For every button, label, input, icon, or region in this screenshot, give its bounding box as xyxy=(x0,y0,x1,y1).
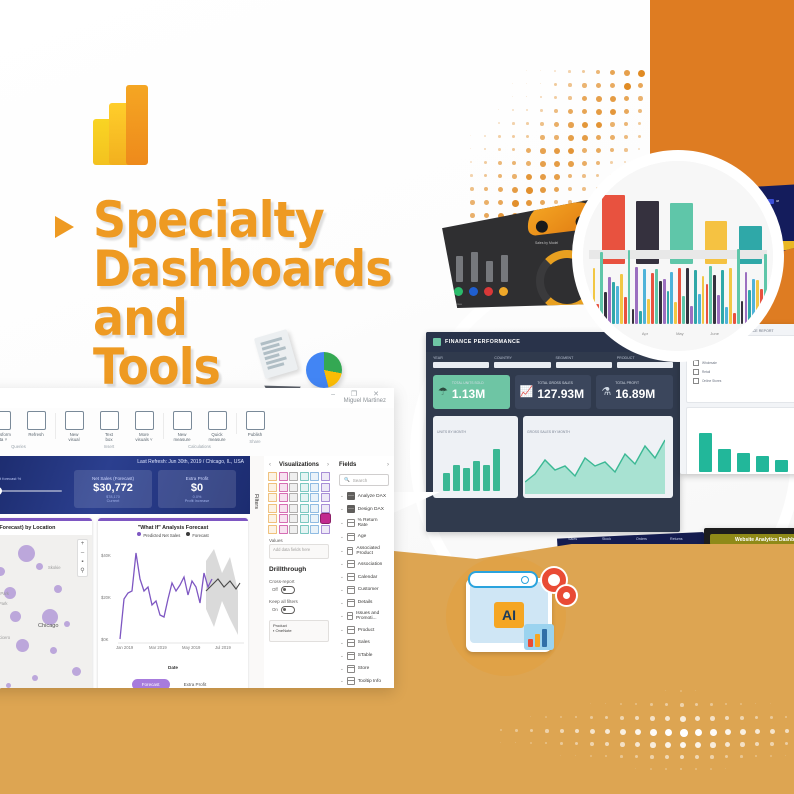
table-icon xyxy=(347,547,354,555)
quick-measure-icon xyxy=(208,411,227,430)
field-label: Product xyxy=(358,628,375,633)
magnified-bar-small xyxy=(628,250,631,324)
ribbon-button-quick-measure-icon[interactable]: Quick measure xyxy=(202,411,232,442)
kpi-sub2: Profit Increase xyxy=(185,499,209,503)
visual-type-icon[interactable] xyxy=(300,493,309,502)
magnified-bar-small xyxy=(729,268,732,325)
visual-type-icon[interactable] xyxy=(310,493,319,502)
finance-filter-label: COUNTRY xyxy=(494,356,550,360)
ribbon-group-name: Calculations xyxy=(188,444,211,449)
visual-type-icon[interactable] xyxy=(279,483,288,492)
map-zoom-controls[interactable]: +–▪⚲ xyxy=(77,539,88,577)
magnifier-x-tick: Mar xyxy=(608,331,615,336)
chevron-down-icon[interactable]: ⌄ xyxy=(340,678,344,684)
magnified-bar-small xyxy=(709,266,712,325)
visual-type-icon[interactable] xyxy=(310,514,319,523)
field-label: Sales xyxy=(358,640,370,645)
chevron-down-icon[interactable]: ⌄ xyxy=(340,548,344,554)
bar-chart-icon xyxy=(524,624,554,650)
field-item[interactable]: ⌄ STable xyxy=(334,649,394,662)
visual-type-icon[interactable] xyxy=(289,514,298,523)
visual-type-icon[interactable] xyxy=(321,525,330,534)
cross-report-toggle[interactable]: Off xyxy=(264,585,334,595)
chart-buttons[interactable]: Forecast Extra Profit xyxy=(98,679,248,688)
filter-option-label: Online Stores xyxy=(702,379,721,383)
map-bubble[interactable] xyxy=(36,563,43,570)
finance-kpi: 📈 TOTAL GROSS SALES 127.93M xyxy=(515,375,592,409)
magnifier-x-tick: May xyxy=(676,331,684,336)
y-tick-label: $20K xyxy=(101,595,111,600)
chevron-right-icon[interactable]: › xyxy=(327,462,329,468)
measure-icon xyxy=(347,492,355,500)
map-control[interactable]: – xyxy=(81,549,84,558)
toggle-switch-icon[interactable] xyxy=(281,586,295,594)
visual-type-icon[interactable] xyxy=(279,493,288,502)
filters-rail[interactable]: Filters xyxy=(250,456,265,688)
field-item[interactable]: ⌄ Age xyxy=(334,530,394,543)
ribbon-button-label: More visuals ˅ xyxy=(135,432,152,442)
table-icon xyxy=(347,519,355,527)
y-tick-label: $40K xyxy=(101,553,111,558)
last-refresh-label: Last Refresh: Jun 30th, 2019 / Chicago, … xyxy=(137,459,244,465)
slider-caption: Adjust forecast % xyxy=(0,476,21,481)
ribbon-button-new-visual-icon[interactable]: New visual xyxy=(59,411,89,442)
field-label: Calendar xyxy=(358,575,377,580)
table-icon xyxy=(347,533,355,541)
filters-label: Filters xyxy=(253,494,259,509)
visual-type-icon[interactable] xyxy=(279,472,288,481)
visual-type-icon[interactable] xyxy=(268,493,277,502)
poster-canvas: Specialty Dashboards and Tools Sales by … xyxy=(0,0,794,794)
transform-data-icon xyxy=(0,411,11,430)
ribbon-group: Publish Share xyxy=(236,411,274,444)
legend-label-2: Forecast xyxy=(192,533,208,538)
pie-chart-icon xyxy=(306,352,342,388)
map-bubble[interactable] xyxy=(18,545,35,562)
table-icon xyxy=(347,560,355,568)
more-visuals-icon xyxy=(135,411,154,430)
checkbox-icon[interactable] xyxy=(693,378,699,384)
visual-type-icon[interactable] xyxy=(279,514,288,523)
finance-kpi: ⚗ TOTAL PROFIT 16.89M xyxy=(596,375,673,409)
chevron-down-icon[interactable]: ⌄ xyxy=(340,653,344,659)
kpi-card-extra-profit[interactable]: Extra Profit $0 0.0% Profit Increase xyxy=(158,470,236,508)
map-visual[interactable]: Sales (Forecast) by Location ChicagoOak … xyxy=(0,518,92,688)
chevron-down-icon[interactable]: ⌄ xyxy=(340,587,344,593)
chevron-down-icon[interactable]: ⌄ xyxy=(340,600,344,606)
field-item[interactable]: ⌄ Association xyxy=(334,558,394,571)
map-title: Sales (Forecast) by Location xyxy=(0,521,92,533)
table-icon xyxy=(347,626,355,634)
window-controls[interactable]: – ❐ ✕ xyxy=(331,390,386,398)
magnified-bar-small xyxy=(616,286,619,324)
visual-type-icon[interactable] xyxy=(289,493,298,502)
ribbon-button-label: Publish xyxy=(248,432,262,437)
ribbon-button-label: Text box xyxy=(105,432,113,442)
field-label: % Return Rate xyxy=(358,518,388,528)
visual-type-icon[interactable] xyxy=(310,525,319,534)
magnified-bar-small xyxy=(733,313,736,324)
report-header: Last Refresh: Jun 30th, 2019 / Chicago, … xyxy=(0,456,250,514)
magnified-bar-small xyxy=(663,279,666,325)
finance-filter-label: YEAR xyxy=(433,356,489,360)
finance-kpi-value: 127.93M xyxy=(537,387,584,401)
map-city-label: Skokie xyxy=(48,565,61,570)
magnified-bar-small xyxy=(655,269,658,325)
field-item[interactable]: ⌄ Details xyxy=(334,596,394,609)
magnified-bar-small xyxy=(721,270,724,325)
finance-kpi-value: 16.89M xyxy=(615,387,655,401)
map-city-label: Oak Park xyxy=(0,601,7,606)
magnified-bar-small xyxy=(760,289,763,324)
map-bubble[interactable] xyxy=(64,621,70,627)
magnified-bar-small xyxy=(632,309,635,324)
kpi-value: $0 xyxy=(191,482,203,494)
refresh-icon xyxy=(27,411,46,430)
chevron-down-icon[interactable]: ⌄ xyxy=(340,561,344,567)
magnifier-x-tick: Apr xyxy=(642,331,648,336)
chevron-down-icon[interactable]: ⌄ xyxy=(340,613,344,619)
finance-filter[interactable]: SEGMENT xyxy=(556,356,612,368)
ribbon-button-transform-data-icon[interactable]: Transform data ˅ xyxy=(0,411,16,442)
visualizations-pane[interactable]: ‹ Visualizations › Values Add data field… xyxy=(264,456,335,688)
magnified-bar-small xyxy=(706,284,709,325)
new-visual-icon xyxy=(65,411,84,430)
visual-type-icon[interactable] xyxy=(289,525,298,534)
magnified-bar-small xyxy=(674,302,677,324)
x-tick-label: Jan 2019 xyxy=(116,645,133,650)
magnified-bar-small xyxy=(659,281,662,325)
magnified-bar-small xyxy=(737,249,740,324)
ribbon-button-refresh-icon[interactable]: Refresh xyxy=(21,411,51,442)
visual-type-icon[interactable] xyxy=(289,483,298,492)
search-icon xyxy=(468,571,538,588)
power-bi-logo xyxy=(93,85,159,165)
finance-kpi-label: TOTAL UNITS SOLD xyxy=(452,381,485,385)
field-label: Age xyxy=(358,534,367,539)
magnified-bar-small xyxy=(686,268,689,325)
magnified-bar-small xyxy=(651,273,654,324)
field-item[interactable]: ⌄ % Return Rate xyxy=(334,516,394,531)
filter-option[interactable]: Wholesale xyxy=(691,358,794,367)
ribbon-button-label: New measure xyxy=(173,432,190,442)
visual-type-icon[interactable] xyxy=(279,525,288,534)
map-bubble[interactable] xyxy=(54,585,62,593)
forecast-slider[interactable] xyxy=(0,490,62,492)
field-label: Tooltip Info xyxy=(358,679,381,684)
kpi-title: Extra Profit xyxy=(186,476,209,481)
ribbon-button-more-visuals-icon[interactable]: More visuals ˅ xyxy=(129,411,159,442)
values-label: Values xyxy=(264,534,334,544)
measure-icon xyxy=(347,505,355,513)
map-control[interactable]: + xyxy=(81,540,85,549)
ribbon-button-label: Refresh xyxy=(28,432,43,437)
table-icon xyxy=(347,599,355,607)
field-label: Association xyxy=(358,562,383,567)
magnified-bar-small xyxy=(756,280,759,324)
teal-bar-card xyxy=(686,407,794,474)
checkbox-icon[interactable] xyxy=(693,369,699,375)
magnified-bar-small xyxy=(717,295,720,324)
ribbon-group-name: Share xyxy=(249,439,260,444)
magnified-bar-small xyxy=(690,306,693,324)
map-bubble[interactable] xyxy=(10,611,21,622)
visual-type-icon[interactable] xyxy=(321,472,330,481)
visual-type-icon[interactable] xyxy=(300,483,309,492)
magnified-bar-small xyxy=(620,274,623,324)
hero-title-line2: Dashboards and xyxy=(93,240,392,347)
fields-pane[interactable]: Fields › 🔍 Search ⌄ Analyze DAX ⌄ Design… xyxy=(334,456,394,688)
visual-type-icon[interactable] xyxy=(321,514,330,523)
finance-filter[interactable]: YEAR xyxy=(433,356,489,368)
finance-kpi-label: TOTAL GROSS SALES xyxy=(537,381,584,385)
finance-kpi: ☂ TOTAL UNITS SOLD 1.13M xyxy=(433,375,510,409)
ribbon-toolbar[interactable]: Transform data ˅ Refresh Queries New vis… xyxy=(0,408,394,460)
flask-icon: ⚗ xyxy=(601,385,611,398)
network-icon: ☂ xyxy=(438,385,448,398)
magnified-bar-small xyxy=(589,317,592,325)
table-icon xyxy=(347,652,355,660)
fields-search-input[interactable]: 🔍 Search xyxy=(339,474,389,486)
field-label: Issues and Promoti... xyxy=(356,611,388,621)
visual-type-icon[interactable] xyxy=(300,504,309,513)
field-label: Design DAX xyxy=(358,507,384,512)
field-label: Details xyxy=(358,600,373,605)
filter-option-label: Retail xyxy=(702,370,710,374)
finance-kpi-label: TOTAL PROFIT xyxy=(615,381,655,385)
finance-card-title-2: GROSS SALES BY MONTH xyxy=(527,430,570,434)
magnified-bar-small xyxy=(593,268,596,325)
keep-filters-label: Keep all filters xyxy=(264,595,334,605)
chevron-down-icon[interactable]: ⌄ xyxy=(340,640,344,646)
finance-filter[interactable]: COUNTRY xyxy=(494,356,550,368)
magnified-bar-small xyxy=(698,294,701,324)
chevron-down-icon[interactable]: ⌄ xyxy=(340,493,344,499)
magnifier-x-tick: June xyxy=(710,331,719,336)
visual-type-icon[interactable] xyxy=(279,504,288,513)
chart-x-title: Date xyxy=(98,665,248,670)
visual-type-icon[interactable] xyxy=(268,483,277,492)
magnified-bar-small xyxy=(745,272,748,324)
filter-option[interactable]: Retail xyxy=(691,367,794,376)
visual-type-icon[interactable] xyxy=(300,525,309,534)
forecast-line-chart xyxy=(98,543,248,653)
forecast-button[interactable]: Forecast xyxy=(132,679,170,688)
map-city-label: Chicago xyxy=(38,623,59,629)
magnified-bar-small xyxy=(670,272,673,325)
filter-option[interactable]: Online Stores xyxy=(691,376,794,385)
x-tick-label: Mar 2019 xyxy=(149,645,167,650)
teal-bar xyxy=(718,449,731,472)
table-icon xyxy=(347,677,355,685)
chevron-down-icon[interactable]: ⌄ xyxy=(340,506,344,512)
filter-option-label: Wholesale xyxy=(702,361,717,365)
map-bubble[interactable] xyxy=(72,667,81,676)
table-icon xyxy=(347,665,355,673)
magnified-bar-small xyxy=(702,276,705,324)
field-item[interactable]: ⌄ Associated Product xyxy=(334,543,394,558)
new-measure-icon xyxy=(173,411,192,430)
navy-tab[interactable]: Returns xyxy=(670,537,683,541)
visual-type-icon[interactable] xyxy=(289,472,298,481)
field-label: STable xyxy=(358,653,373,658)
visual-type-icon[interactable] xyxy=(310,472,319,481)
visual-type-icon[interactable] xyxy=(310,504,319,513)
fields-title: Fields xyxy=(339,462,356,468)
map-control[interactable]: ⚲ xyxy=(80,567,84,576)
map-bubble[interactable] xyxy=(50,647,57,654)
visual-type-icon[interactable] xyxy=(289,504,298,513)
ribbon-button-label: New visual xyxy=(68,432,79,442)
visual-type-icon[interactable] xyxy=(300,472,309,481)
navy-tab[interactable]: Stock xyxy=(602,537,611,541)
magnified-bar-small xyxy=(694,270,697,324)
kpi-sub2: Current xyxy=(107,499,120,503)
table-icon xyxy=(347,586,355,594)
table-icon xyxy=(347,612,353,620)
map-city-label: Cicero xyxy=(0,635,10,640)
ribbon-group-name: Insert xyxy=(104,444,114,449)
teal-bar xyxy=(756,456,769,472)
table-icon xyxy=(347,639,355,647)
cross-report-state: Off xyxy=(272,587,278,592)
keep-filters-toggle[interactable]: On xyxy=(264,605,334,615)
map-control[interactable]: ▪ xyxy=(81,558,83,567)
map-bubble[interactable] xyxy=(0,567,5,576)
report-canvas-area: Last Refresh: Jun 30th, 2019 / Chicago, … xyxy=(0,456,394,688)
chart-legend: Predicted Net Sales Forecast xyxy=(98,532,248,538)
drillthrough-field[interactable]: Product ▪ OneNote xyxy=(269,620,329,642)
x-tick-label: May 2019 xyxy=(182,645,200,650)
visual-type-icon[interactable] xyxy=(268,504,277,513)
search-placeholder: Search xyxy=(353,478,368,483)
donut-title: Sales by Model xyxy=(535,241,558,245)
visual-type-icon[interactable] xyxy=(300,514,309,523)
visual-type-icon[interactable] xyxy=(310,483,319,492)
finance-card-title-1: UNITS BY MONTH xyxy=(437,430,466,434)
magnified-bar-small xyxy=(725,307,728,324)
table-icon xyxy=(347,573,355,581)
map-city-label: Elmwood Park xyxy=(0,591,9,596)
extra-profit-button[interactable]: Extra Profit xyxy=(176,679,215,688)
field-item[interactable]: ⌄ Customer xyxy=(334,583,394,596)
field-label: Analyze DAX xyxy=(358,494,386,499)
map-bubble[interactable] xyxy=(16,639,29,652)
visual-type-icon[interactable] xyxy=(268,525,277,534)
field-item[interactable]: ⌄ Calendar xyxy=(334,571,394,584)
ribbon-button-label: Quick measure xyxy=(208,432,225,442)
teal-bar xyxy=(699,433,712,472)
field-label: Customer xyxy=(358,587,379,592)
magnified-bar-small xyxy=(608,277,611,324)
ribbon-button-text-box-icon[interactable]: Text box xyxy=(94,411,124,442)
magnifier-x-tick: July xyxy=(745,331,752,336)
magnified-bar-small xyxy=(667,291,670,325)
ribbon-button-publish-icon[interactable]: Publish xyxy=(240,411,270,437)
ribbon-group: New measure Quick measure Calculations xyxy=(163,411,236,449)
magnified-bar-small xyxy=(741,301,744,324)
user-name[interactable]: Miguel Martinez xyxy=(344,398,386,404)
power-bi-desktop-window[interactable]: – ❐ ✕ Miguel Martinez Transform data ˅ R… xyxy=(0,388,394,688)
magnified-bar-small xyxy=(764,254,767,325)
magnified-bar-small xyxy=(682,296,685,325)
search-icon: 🔍 xyxy=(344,477,350,483)
finance-dash-title: FINANCE PERFORMANCE xyxy=(445,339,520,345)
chevron-down-icon[interactable]: ⌄ xyxy=(340,666,344,672)
field-item[interactable]: ⌄ Sales xyxy=(334,637,394,650)
magnified-bar-small xyxy=(748,290,751,325)
field-label: Store xyxy=(358,666,369,671)
map-bubble[interactable] xyxy=(32,675,38,681)
visual-type-gallery[interactable] xyxy=(264,472,334,534)
finance-kpi-value: 1.13M xyxy=(452,387,485,401)
kpi-title: Net Sales (Forecast) xyxy=(92,476,134,481)
finance-filter-label: SEGMENT xyxy=(556,356,612,360)
ai-label: AI xyxy=(502,607,516,623)
visual-type-icon[interactable] xyxy=(268,472,277,481)
field-item[interactable]: ⌄ Store xyxy=(334,662,394,675)
kpi-card-net-sales[interactable]: Net Sales (Forecast) $30,772 $78,170 Cur… xyxy=(74,470,152,508)
report-page: Last Refresh: Jun 30th, 2019 / Chicago, … xyxy=(0,456,250,688)
field-item[interactable]: ⌄ Tooltip Info xyxy=(334,675,394,688)
ribbon-button-new-measure-icon[interactable]: New measure xyxy=(167,411,197,442)
magnified-bar-small xyxy=(624,297,627,324)
field-item[interactable]: ⌄ Product xyxy=(334,624,394,637)
visual-type-icon[interactable] xyxy=(321,504,330,513)
toggle-switch-icon[interactable] xyxy=(281,606,295,614)
visual-type-icon[interactable] xyxy=(268,514,277,523)
legend-label-1: Predicted Net Sales xyxy=(143,533,180,538)
magnified-bar-small xyxy=(612,282,615,324)
text-box-icon xyxy=(100,411,119,430)
what-if-forecast-visual[interactable]: "What If" Analysis Forecast Predicted Ne… xyxy=(98,518,248,688)
magnified-bar-small xyxy=(600,252,603,324)
values-dropzone[interactable]: Add data fields here xyxy=(269,544,329,559)
magnified-bar-small xyxy=(635,267,638,324)
teal-bar xyxy=(737,453,750,472)
publish-icon xyxy=(246,411,265,430)
kpi-value: $30,772 xyxy=(93,482,133,494)
funnel-value: 48 xyxy=(776,200,779,203)
chevron-down-icon[interactable]: ⌄ xyxy=(340,627,344,633)
field-item[interactable]: ⌄ Analyze DAX xyxy=(334,490,394,503)
chevron-down-icon[interactable]: ⌄ xyxy=(340,534,344,540)
y-tick-label: $0K xyxy=(101,637,108,642)
teal-bar xyxy=(775,460,788,472)
triangle-bullet-icon xyxy=(55,216,74,238)
field-item[interactable]: ⌄ Design DAX xyxy=(334,503,394,516)
chevron-down-icon[interactable]: ⌄ xyxy=(340,574,344,580)
magnifier-circle: MarAprMayJuneJuly xyxy=(572,150,784,362)
ribbon-group-name: Queries xyxy=(11,444,26,449)
ai-analytics-sticker: AI xyxy=(466,578,552,652)
drillthrough-title: Drillthrough xyxy=(264,559,334,575)
field-item[interactable]: ⌄ Issues and Promoti... xyxy=(334,609,394,624)
magnified-bar-small xyxy=(713,275,716,324)
chevron-down-icon[interactable]: ⌄ xyxy=(340,520,344,526)
magnified-bar-small xyxy=(596,304,599,324)
map-bubble[interactable] xyxy=(6,683,11,688)
finance-logo-icon xyxy=(433,338,441,346)
collapse-left-icon[interactable]: ‹ xyxy=(269,462,271,468)
bar-chart-icon: 📈 xyxy=(520,385,534,398)
visual-type-icon[interactable] xyxy=(321,483,330,492)
visual-type-icon[interactable] xyxy=(321,493,330,502)
magnified-bar-small xyxy=(643,269,646,325)
navy-tab[interactable]: Orders xyxy=(636,537,647,541)
ribbon-group: New visual Text box More visuals ˅ Inser… xyxy=(55,411,163,449)
chevron-right-icon[interactable]: › xyxy=(387,462,389,468)
